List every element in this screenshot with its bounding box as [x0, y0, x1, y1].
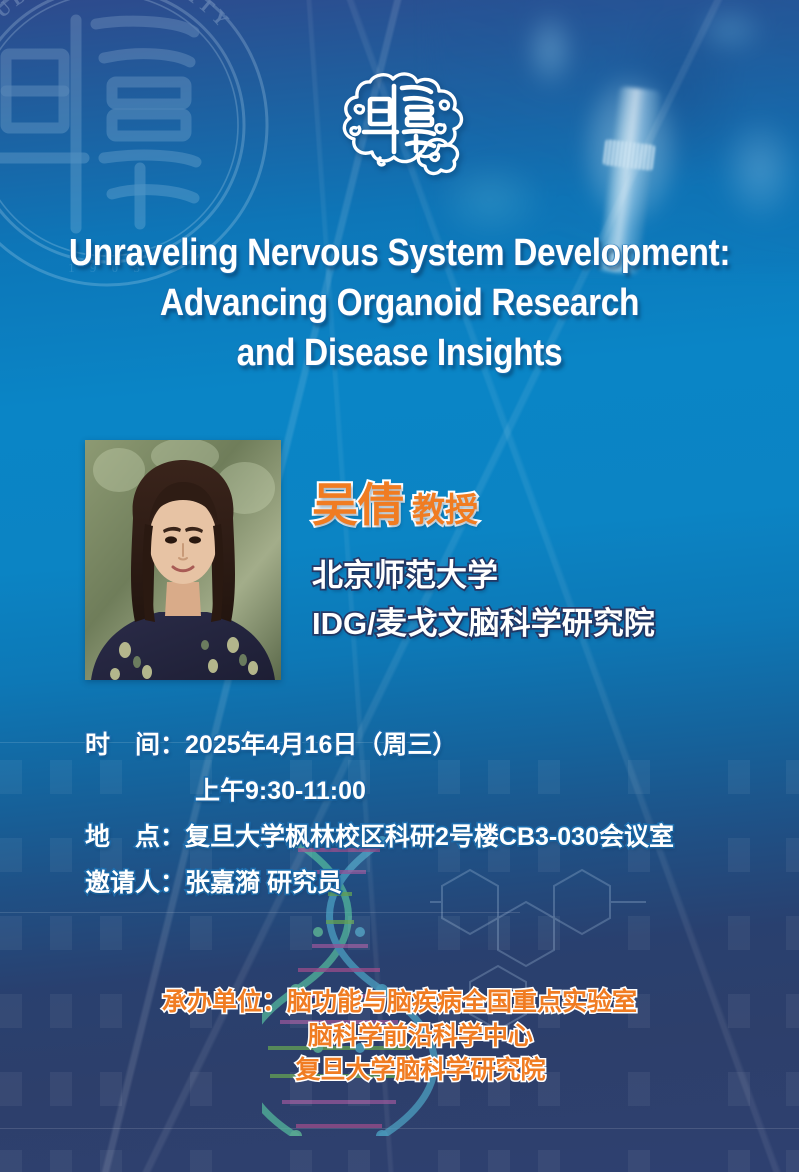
detail-row-location: 地 点：复旦大学枫林校区科研2号楼CB3-030会议室 — [85, 814, 765, 860]
speaker-name-text: 吴倩 — [312, 479, 404, 531]
title-line-1: Unraveling Nervous System Development: — [48, 228, 751, 278]
title-line-3: and Disease Insights — [48, 328, 751, 378]
detail-label-host: 邀请人： — [85, 869, 185, 897]
brain-outline-logo-icon — [330, 66, 478, 176]
affiliation-line-1: 北京师范大学 — [312, 552, 655, 600]
page-title: Unraveling Nervous System Development: A… — [48, 228, 751, 378]
detail-value-time: 2025年4月16日（周三） — [185, 731, 457, 759]
speaker-name: 吴倩教授 — [312, 482, 478, 533]
detail-label-location: 地 点： — [85, 823, 185, 851]
detail-row-host: 邀请人：张嘉漪 研究员 — [85, 860, 765, 906]
organizer-line-2: 脑科学前沿科学中心 — [0, 1019, 799, 1053]
organizer-line-1: 承办单位：脑功能与脑疾病全国重点实验室 — [0, 985, 799, 1019]
detail-label-time: 时 间： — [85, 731, 185, 759]
detail-row-time: 时 间：2025年4月16日（周三） — [85, 722, 765, 768]
seminar-poster: FUDAN UNIVERSITY 1 9 0 5 — [0, 0, 799, 1172]
event-details: 时 间：2025年4月16日（周三） 上午9:30-11:00 地 点：复旦大学… — [85, 722, 765, 906]
organizer-footer: 承办单位：脑功能与脑疾病全国重点实验室 脑科学前沿科学中心 复旦大学脑科学研究院 — [0, 985, 799, 1087]
detail-value-host: 张嘉漪 研究员 — [185, 869, 342, 897]
detail-value-time-range: 上午9:30-11:00 — [195, 777, 366, 805]
organizer-line-3: 复旦大学脑科学研究院 — [0, 1053, 799, 1087]
detail-row-time-range: 上午9:30-11:00 — [85, 768, 765, 814]
speaker-affiliation: 北京师范大学 IDG/麦戈文脑科学研究院 — [312, 552, 655, 648]
speaker-academic-title: 教授 — [412, 491, 478, 528]
title-line-2: Advancing Organoid Research — [48, 278, 751, 328]
affiliation-line-2: IDG/麦戈文脑科学研究院 — [312, 600, 655, 648]
speaker-portrait — [85, 440, 281, 680]
detail-value-location: 复旦大学枫林校区科研2号楼CB3-030会议室 — [185, 823, 674, 851]
